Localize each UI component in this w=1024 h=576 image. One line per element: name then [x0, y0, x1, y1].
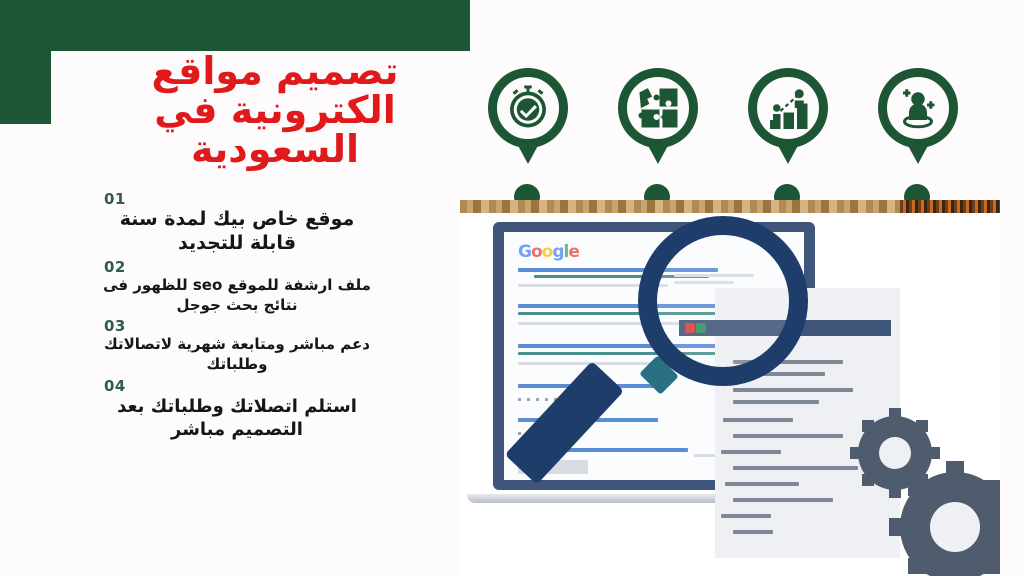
icon-pin-growth — [742, 68, 834, 204]
list-item: 01 موقع خاص بيك لمدة سنة قابلة للتجديد — [92, 190, 382, 256]
list-item-text: استلم اتصلاتك وطلباتك بعد التصميم مباشر — [92, 395, 382, 441]
list-item: 03 دعم مباشر ومتابعة شهرية لاتصالاتك وطل… — [92, 317, 382, 375]
icon-pin-group — [460, 68, 1000, 208]
icon-pin-stopwatch — [482, 68, 574, 204]
wood-texture-strip — [460, 200, 1000, 213]
green-corner-column — [0, 51, 51, 124]
gear-small-icon — [858, 416, 932, 490]
icon-pin-user — [872, 68, 964, 204]
growth-chart-people-icon — [748, 68, 828, 148]
puzzle-pieces-icon — [618, 68, 698, 148]
page-title: تصميم مواقع الكترونية في السعودية — [105, 52, 445, 168]
google-logo: Google — [518, 242, 579, 262]
icon-pin-puzzle — [612, 68, 704, 204]
slide-canvas: تصميم مواقع الكترونية في السعودية 01 موق… — [0, 0, 1024, 576]
title-line-1: تصميم مواقع — [105, 52, 445, 91]
title-line-2: الكترونية في — [105, 91, 445, 130]
title-line-3: السعودية — [105, 130, 445, 169]
feature-list: 01 موقع خاص بيك لمدة سنة قابلة للتجديد 0… — [92, 190, 382, 443]
magnifier-lens — [638, 216, 808, 386]
magnifying-glass-icon — [638, 216, 828, 406]
gear-large-icon — [900, 472, 1000, 576]
list-item-number: 02 — [92, 258, 382, 276]
list-item-number: 04 — [92, 377, 382, 395]
list-item-number: 03 — [92, 317, 382, 335]
seo-search-illustration: Google — [460, 200, 1000, 576]
user-plus-icon — [878, 68, 958, 148]
list-item-number: 01 — [92, 190, 382, 208]
list-item-text: موقع خاص بيك لمدة سنة قابلة للتجديد — [92, 208, 382, 256]
list-item-text: ملف ارشفة للموقع seo للظهور فى نتائج بحث… — [92, 276, 382, 316]
stopwatch-check-icon — [488, 68, 568, 148]
list-item: 02 ملف ارشفة للموقع seo للظهور فى نتائج … — [92, 258, 382, 316]
list-item-text: دعم مباشر ومتابعة شهرية لاتصالاتك وطلبات… — [92, 335, 382, 375]
green-corner-band — [0, 0, 470, 51]
list-item: 04 استلم اتصلاتك وطلباتك بعد التصميم مبا… — [92, 377, 382, 441]
